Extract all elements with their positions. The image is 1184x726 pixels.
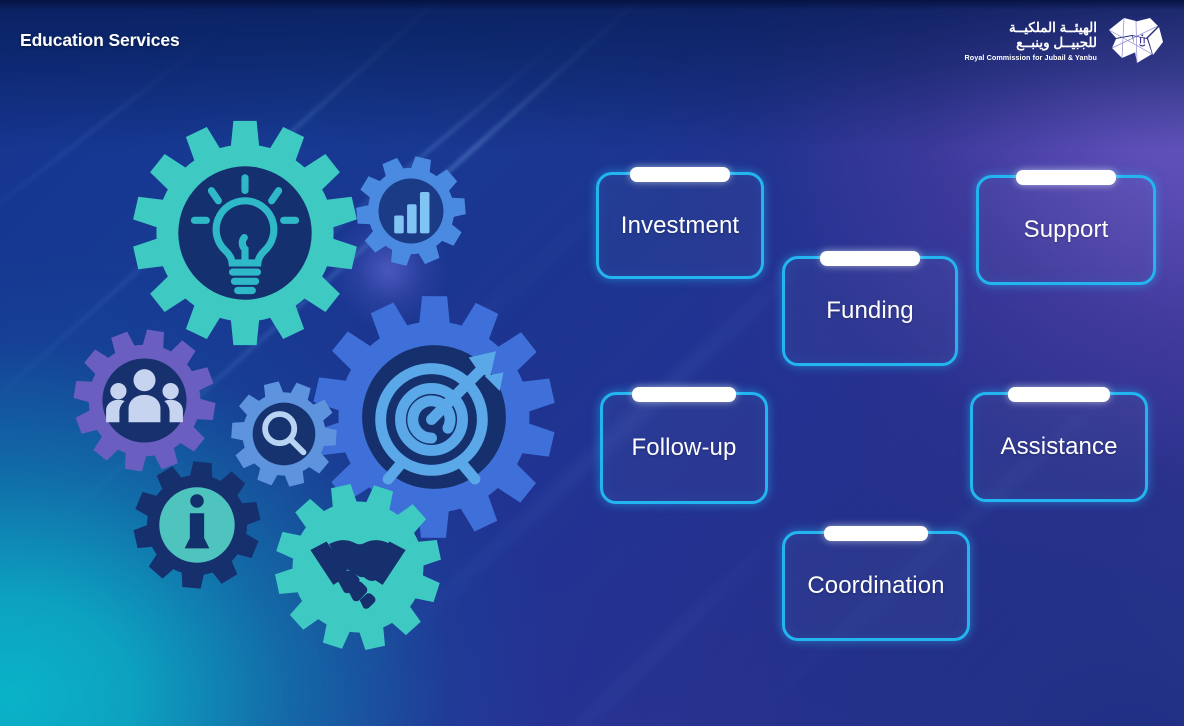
royal-commission-emblem-icon: [1106, 16, 1166, 66]
page-title: Education Services: [20, 30, 180, 51]
process-box-label: Investment: [621, 212, 739, 240]
process-box-funding[interactable]: Funding: [782, 256, 958, 366]
process-box-label: Assistance: [1000, 433, 1117, 461]
slide-canvas: Education Services الهيئــة الملكيــة لل…: [0, 0, 1184, 726]
organization-logo: الهيئــة الملكيــة للجبيــل وينبــع Roya…: [965, 16, 1166, 66]
process-box-label: Coordination: [807, 572, 944, 600]
process-box-tab: [1008, 387, 1110, 402]
process-box-tab: [1016, 170, 1116, 185]
process-box-investment[interactable]: Investment: [596, 172, 764, 279]
process-box-label: Funding: [826, 297, 913, 325]
process-box-tab: [824, 526, 928, 541]
logo-text-block: الهيئــة الملكيــة للجبيــل وينبــع Roya…: [965, 21, 1097, 61]
process-box-coordination[interactable]: Coordination: [782, 531, 970, 641]
logo-arabic-line-1: الهيئــة الملكيــة: [965, 21, 1097, 35]
process-box-tab: [632, 387, 736, 402]
process-box-tab: [820, 251, 920, 266]
logo-english-name: Royal Commission for Jubail & Yanbu: [965, 54, 1097, 61]
logo-arabic-line-2: للجبيــل وينبــع: [965, 36, 1097, 50]
background-top-edge: [0, 0, 1184, 10]
process-box-label: Follow-up: [632, 434, 737, 462]
process-box-support[interactable]: Support: [976, 175, 1156, 285]
process-box-label: Support: [1024, 216, 1109, 244]
process-box-tab: [630, 167, 730, 182]
process-box-assistance[interactable]: Assistance: [970, 392, 1148, 502]
process-box-follow-up[interactable]: Follow-up: [600, 392, 768, 504]
